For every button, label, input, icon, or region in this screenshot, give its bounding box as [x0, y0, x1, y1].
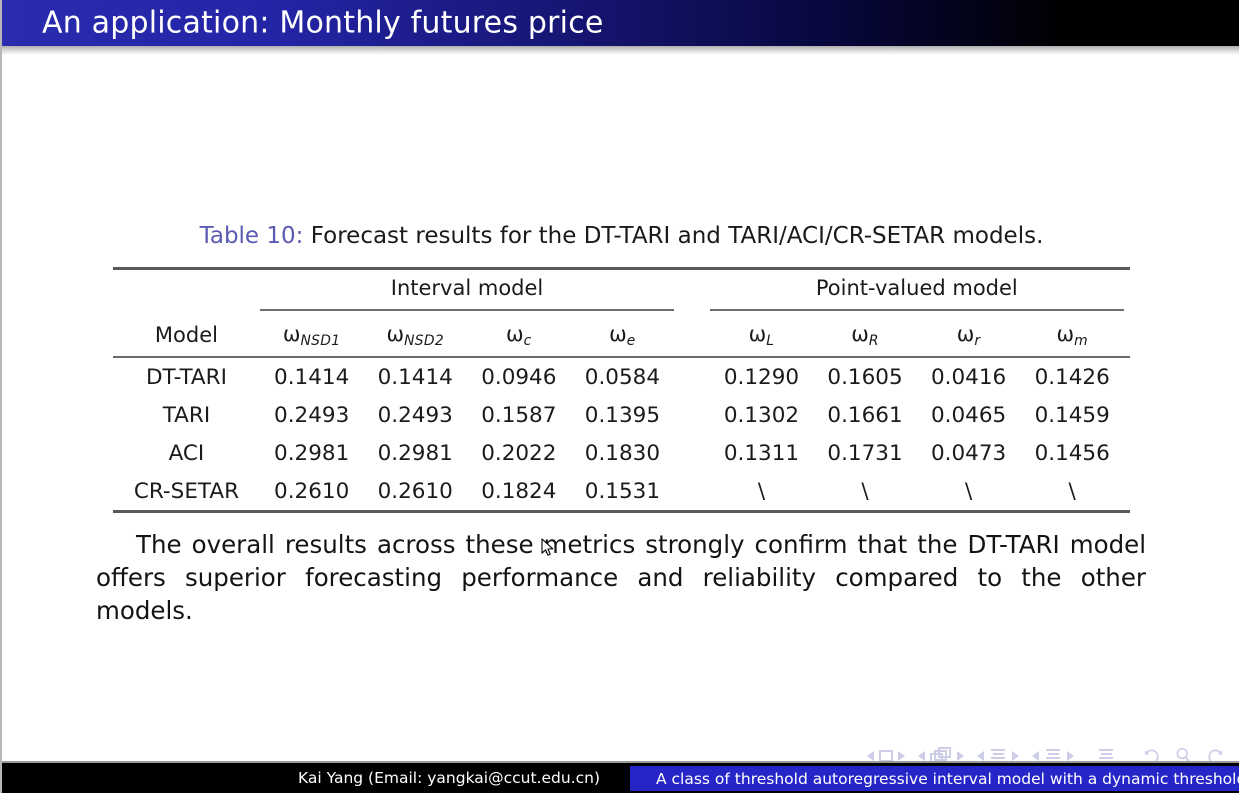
row-model-name: TARI — [113, 396, 260, 434]
cell-value: 0.1290 — [710, 358, 814, 396]
column-header-omega-c: ωc — [467, 314, 571, 356]
row-gap — [674, 358, 709, 396]
cell-value: 0.1605 — [813, 358, 917, 396]
cell-value: 0.1661 — [813, 396, 917, 434]
row-model-name: CR-SETAR — [113, 472, 260, 510]
cell-value: 0.2981 — [363, 434, 467, 472]
column-header-omega-m: ωm — [1020, 314, 1124, 356]
presentation-slide: An application: Monthly futures price Ta… — [0, 0, 1239, 793]
cell-value: 0.0416 — [917, 358, 1021, 396]
table-row: CR-SETAR 0.2610 0.2610 0.1824 0.1531 \ \… — [113, 472, 1130, 510]
column-header-omega-L: ωL — [710, 314, 814, 356]
group-header-spacer — [113, 270, 260, 306]
cell-value: 0.1414 — [363, 358, 467, 396]
cell-value: 0.1824 — [467, 472, 571, 510]
column-header-gap — [674, 314, 709, 356]
column-header-omega-r: ωr — [917, 314, 1021, 356]
cell-value: 0.1414 — [260, 358, 364, 396]
column-header-omega-R: ωR — [813, 314, 917, 356]
slide-icon[interactable] — [879, 750, 893, 762]
row-gap — [674, 472, 709, 510]
cell-value: 0.1302 — [710, 396, 814, 434]
section-next-icon[interactable] — [1067, 751, 1074, 761]
table-caption-label: Table 10: — [200, 223, 304, 249]
slide-navigation-group[interactable] — [867, 750, 905, 762]
footer-author: Kai Yang (Email: yangkai@ccut.edu.cn) — [298, 769, 600, 787]
cell-value: 0.2022 — [467, 434, 571, 472]
cell-value: \ — [917, 472, 1021, 510]
row-model-name: ACI — [113, 434, 260, 472]
column-header-endpad — [1124, 314, 1130, 356]
slide-prev-icon[interactable] — [867, 751, 874, 761]
footer-title: A class of threshold autoregressive inte… — [656, 770, 1239, 788]
cmidrule-gap — [674, 306, 709, 314]
footer-title-block: A class of threshold autoregressive inte… — [622, 763, 1239, 793]
title-underline-gradient — [2, 46, 1239, 55]
cell-value: 0.1731 — [813, 434, 917, 472]
cmidrule-interval — [260, 306, 674, 314]
group-header-gap — [674, 270, 709, 306]
slide-title: An application: Monthly futures price — [42, 6, 604, 41]
frame-prev-icon[interactable] — [918, 751, 925, 761]
cmidrule-spacer — [113, 306, 260, 314]
row-endpad — [1124, 472, 1130, 510]
cell-value: 0.2610 — [260, 472, 364, 510]
group-header-interval: Interval model — [260, 270, 674, 306]
column-header-model: Model — [113, 314, 260, 356]
cell-value: 0.1311 — [710, 434, 814, 472]
cell-value: 0.0584 — [571, 358, 675, 396]
cell-value: 0.1531 — [571, 472, 675, 510]
table-row: TARI 0.2493 0.2493 0.1587 0.1395 0.1302 … — [113, 396, 1130, 434]
subsection-prev-icon[interactable] — [977, 751, 984, 761]
cell-value: 0.1395 — [571, 396, 675, 434]
cell-value: 0.1426 — [1020, 358, 1124, 396]
summary-paragraph: The overall results across these metrics… — [96, 528, 1146, 627]
footer-author-block: Kai Yang (Email: yangkai@ccut.edu.cn) — [2, 763, 622, 793]
table-rule-bottom-row — [113, 510, 1130, 513]
row-model-name: DT-TARI — [113, 358, 260, 396]
cell-value: 0.0473 — [917, 434, 1021, 472]
cmidrule-endpad — [1124, 306, 1130, 314]
table-row: ACI 0.2981 0.2981 0.2022 0.1830 0.1311 0… — [113, 434, 1130, 472]
cell-value: 0.1459 — [1020, 396, 1124, 434]
results-table-wrapper: Interval model Point-valued model Model — [113, 267, 1130, 513]
column-header-omega-nsd1: ωNSD1 — [260, 314, 364, 356]
table-cmidrule-row — [113, 306, 1130, 314]
frame-next-icon[interactable] — [957, 751, 964, 761]
table-group-header-row: Interval model Point-valued model — [113, 270, 1130, 306]
cell-value: 0.2981 — [260, 434, 364, 472]
section-prev-icon[interactable] — [1032, 751, 1039, 761]
cell-value: 0.2610 — [363, 472, 467, 510]
cell-value: 0.1587 — [467, 396, 571, 434]
row-endpad — [1124, 434, 1130, 472]
group-header-endpad — [1124, 270, 1130, 306]
cell-value: 0.1830 — [571, 434, 675, 472]
cell-value: 0.0946 — [467, 358, 571, 396]
row-gap — [674, 434, 709, 472]
cell-value: \ — [710, 472, 814, 510]
cell-value: \ — [813, 472, 917, 510]
cell-value: 0.0465 — [917, 396, 1021, 434]
column-header-omega-nsd2: ωNSD2 — [363, 314, 467, 356]
group-header-point: Point-valued model — [710, 270, 1124, 306]
summary-paragraph-text: The overall results across these metrics… — [96, 530, 1146, 625]
cell-value: 0.2493 — [260, 396, 364, 434]
row-endpad — [1124, 396, 1130, 434]
slide-content: Table 10: Forecast results for the DT-TA… — [2, 55, 1239, 755]
results-table: Interval model Point-valued model Model — [113, 267, 1130, 513]
slide-next-icon[interactable] — [898, 751, 905, 761]
table-row: DT-TARI 0.1414 0.1414 0.0946 0.0584 0.12… — [113, 358, 1130, 396]
cell-value: \ — [1020, 472, 1124, 510]
table-rule-bottom — [113, 510, 1130, 513]
slide-title-bar: An application: Monthly futures price — [2, 0, 1239, 46]
table-column-header-row: Model ωNSD1 ωNSD2 ωc ωe ωL ωR ωr ωm — [113, 314, 1130, 356]
table-caption: Table 10: Forecast results for the DT-TA… — [2, 223, 1239, 249]
row-endpad — [1124, 358, 1130, 396]
table-caption-text: Forecast results for the DT-TARI and TAR… — [311, 223, 1044, 249]
footer-title-highlight: A class of threshold autoregressive inte… — [630, 766, 1239, 791]
cmidrule-point — [710, 306, 1124, 314]
cell-value: 0.2493 — [363, 396, 467, 434]
column-header-omega-e: ωe — [571, 314, 675, 356]
subsection-next-icon[interactable] — [1012, 751, 1019, 761]
cell-value: 0.1456 — [1020, 434, 1124, 472]
footer-bar: Kai Yang (Email: yangkai@ccut.edu.cn) A … — [2, 761, 1239, 793]
row-gap — [674, 396, 709, 434]
